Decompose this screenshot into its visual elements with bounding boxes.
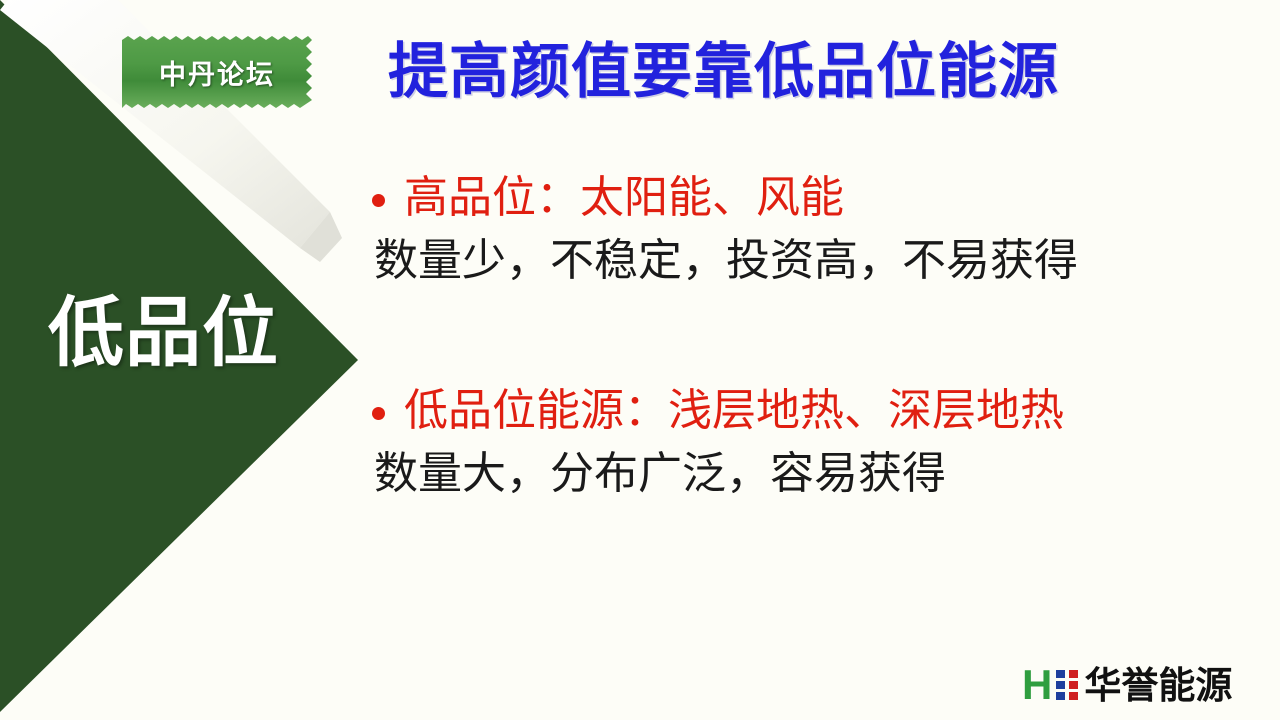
bullet-dot-icon: [372, 407, 385, 420]
page-title: 提高颜值要靠低品位能源: [388, 38, 1188, 107]
green-arrow-label: 低品位: [48, 296, 318, 372]
bullet-text: 高品位：太阳能、风能: [404, 168, 844, 227]
content-group-1: 高品位：太阳能、风能 数量少，不稳定，投资高，不易获得: [372, 168, 1252, 291]
logo-dot: [1069, 670, 1078, 678]
logo-company-name: 华誉能源: [1084, 667, 1232, 704]
logo-dot: [1056, 670, 1065, 678]
company-logo: H 华誉能源: [1022, 662, 1232, 708]
bullet-item: 高品位：太阳能、风能: [372, 168, 1252, 227]
content-body: 高品位：太阳能、风能 数量少，不稳定，投资高，不易获得 低品位能源：浅层地热、深…: [372, 168, 1252, 504]
bullet-item: 低品位能源：浅层地热、深层地热: [372, 381, 1252, 440]
detail-text: 数量少，不稳定，投资高，不易获得: [374, 231, 1252, 290]
logo-dots-icon: [1056, 670, 1078, 700]
logo-dot: [1056, 692, 1065, 700]
ribbon-banner: 中丹论坛: [122, 36, 312, 108]
ribbon-label: 中丹论坛: [122, 36, 312, 108]
logo-h-mark: H: [1022, 664, 1051, 706]
logo-dot: [1056, 681, 1065, 689]
detail-text: 数量大，分布广泛，容易获得: [374, 444, 1252, 503]
slide-canvas: 低品位 中丹论坛 提高颜值要靠低: [0, 0, 1280, 720]
bullet-text: 低品位能源：浅层地热、深层地热: [404, 381, 1064, 440]
logo-dot: [1069, 681, 1078, 689]
bullet-dot-icon: [372, 194, 385, 207]
content-group-2: 低品位能源：浅层地热、深层地热 数量大，分布广泛，容易获得: [372, 381, 1252, 504]
logo-dot: [1069, 692, 1078, 700]
